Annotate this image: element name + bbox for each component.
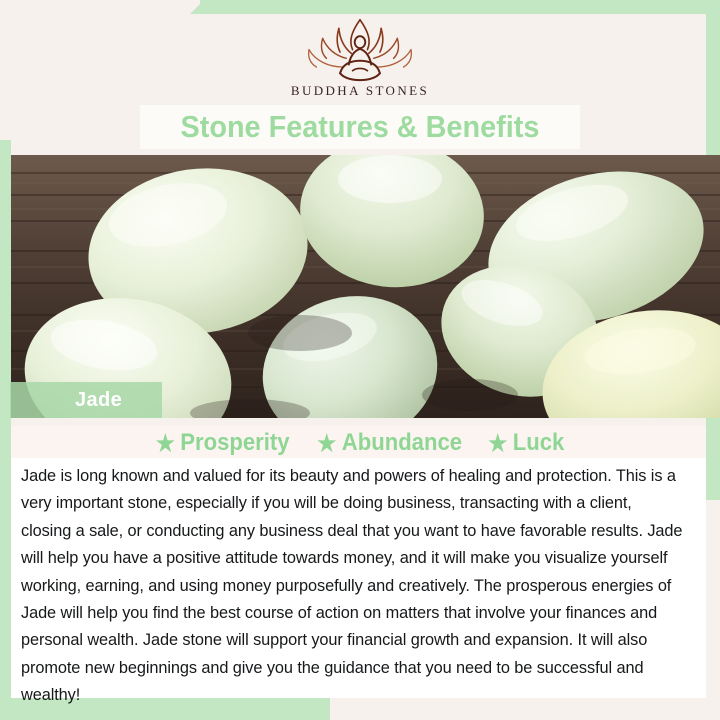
stone-name-label: Jade	[75, 389, 122, 412]
brand-name: BUDDHA STONES	[291, 83, 429, 99]
keyword-label: Abundance	[342, 429, 462, 457]
frame-accent-left	[0, 140, 11, 720]
keyword-item-abundance: ★ Abundance	[317, 429, 462, 457]
description-panel: Jade is long known and valued for its be…	[11, 458, 706, 698]
keyword-item-luck: ★ Luck	[488, 429, 564, 457]
star-icon: ★	[488, 432, 507, 455]
star-icon: ★	[317, 432, 336, 455]
jade-stones-photo	[0, 155, 720, 418]
keyword-label: Luck	[512, 429, 564, 457]
frame-accent-top	[200, 0, 720, 14]
keyword-list: ★ Prosperity ★ Abundance ★ Luck	[11, 426, 706, 460]
brand-logo: BUDDHA STONES	[0, 16, 720, 108]
keyword-label: Prosperity	[180, 429, 289, 457]
star-icon: ★	[156, 432, 175, 455]
stone-name-band: Jade	[10, 382, 162, 418]
keyword-item-prosperity: ★ Prosperity	[156, 429, 290, 457]
description-text: Jade is long known and valued for its be…	[21, 462, 686, 709]
page-title-band: Stone Features & Benefits	[140, 105, 580, 149]
page-title: Stone Features & Benefits	[181, 109, 540, 145]
lotus-meditation-icon	[304, 16, 416, 82]
